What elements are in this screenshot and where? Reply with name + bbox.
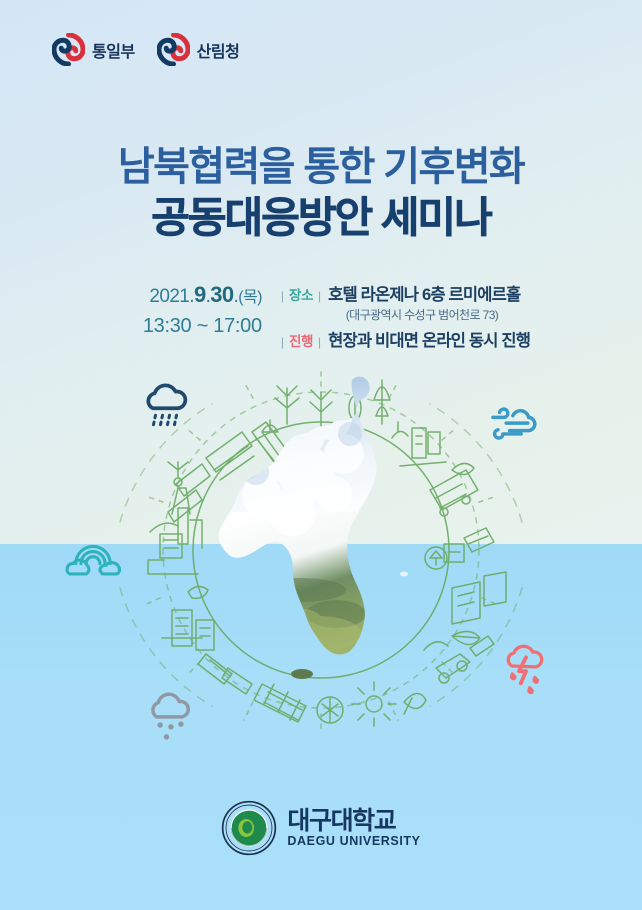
event-details: | 장소 | 호텔 라온제나 6층 르미에르홀 (대구광역시 수성구 범어천로 …: [276, 281, 530, 351]
university-name-kr: 대구대학교: [287, 808, 420, 834]
place-label: 장소: [285, 284, 317, 304]
daegu-university-seal-icon: [221, 800, 277, 856]
title-line-2: 공동대응방안 세미나: [0, 194, 642, 242]
date-month: 9: [194, 282, 206, 307]
university-name-en: DAEGU UNIVERSITY: [287, 835, 420, 849]
logo-label-forest-service: 산림청: [197, 38, 240, 62]
university-name-block: 대구대학교 DAEGU UNIVERSITY: [287, 808, 420, 849]
mode-bar-right: |: [317, 335, 322, 349]
mode-label: 진행: [285, 330, 317, 350]
logo-ministry-of-unification: 통일부: [52, 33, 135, 66]
taegeuk-icon: [157, 33, 190, 66]
place-value: 호텔 라온제나 6층 르미에르홀: [328, 281, 520, 305]
tree-group-top: [262, 380, 390, 432]
train-group-topright: [392, 422, 478, 516]
title-line-1: 남북협력을 통한 기후변화: [0, 145, 642, 190]
snow-cloud-icon: [142, 688, 200, 749]
jeju-island: [291, 669, 313, 679]
wind-cloud-icon: [488, 403, 546, 450]
rain-cloud-icon: [138, 382, 194, 443]
logo-label-unification: 통일부: [92, 38, 135, 62]
korean-peninsula-map: [200, 362, 450, 679]
event-datetime: 2021.9.30.(목) 13:30 ~ 17:00: [112, 281, 276, 339]
date-year: 2021.: [149, 286, 194, 307]
poster: 통일부 산림청 남북협력을 통한 기후변화 공동대응방안 세미나 2021.9.…: [0, 0, 642, 910]
ulleungdo-island: [400, 572, 408, 577]
rainbow-cloud-icon: [62, 532, 124, 583]
poster-title: 남북협력을 통한 기후변화 공동대응방안 세미나: [0, 145, 642, 242]
place-bar-right: |: [317, 289, 322, 303]
mode-value: 현장과 비대면 온라인 동시 진행: [328, 327, 530, 351]
university-logo: 대구대학교 DAEGU UNIVERSITY: [0, 800, 642, 856]
event-date: 2021.9.30.(목): [112, 281, 262, 310]
place-row: | 장소 | 호텔 라온제나 6층 르미에르홀: [280, 281, 530, 305]
logo-korea-forest-service: 산림청: [157, 33, 240, 66]
taegeuk-icon: [52, 33, 85, 66]
mode-row: | 진행 | 현장과 비대면 온라인 동시 진행: [280, 327, 530, 351]
date-day: 30: [210, 282, 233, 307]
government-logos: 통일부 산림청: [52, 33, 239, 66]
building-group-right: [425, 528, 506, 624]
vehicle-group-bottomright: [424, 631, 494, 683]
thunderstorm-icon: [500, 638, 552, 699]
event-time: 13:30 ~ 17:00: [112, 313, 262, 339]
place-address: (대구광역시 수성구 범어천로 73): [280, 306, 530, 323]
event-info: 2021.9.30.(목) 13:30 ~ 17:00 | 장소 | 호텔 라온…: [0, 281, 642, 351]
solar-group-bottom: [254, 682, 426, 726]
date-weekday: (목): [238, 289, 262, 306]
